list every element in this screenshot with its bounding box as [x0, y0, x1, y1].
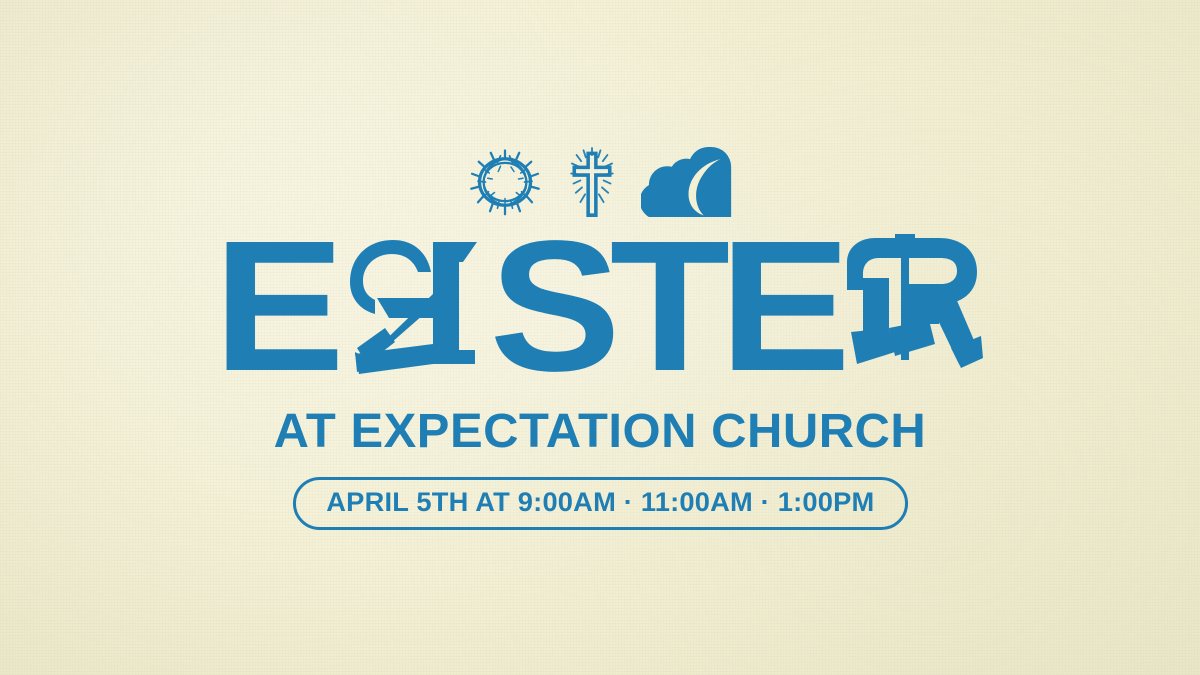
headline-letter-e1: E [213, 233, 340, 382]
easter-promo-poster: E [0, 0, 1200, 675]
headline-letter-a-blackletter [337, 232, 493, 382]
poster-content: E [0, 0, 1200, 675]
headline-letter-r-blackletter [843, 232, 983, 382]
date-pill-wrapper: APRIL 5TH AT 9:00AM · 11:00AM · 1:00PM [0, 477, 1200, 530]
subtitle: AT EXPECTATION CHURCH [0, 404, 1200, 459]
headline-letter-s: S [490, 233, 617, 382]
headline-letter-e2: E [719, 233, 846, 382]
service-times-badge: APRIL 5TH AT 9:00AM · 11:00AM · 1:00PM [293, 477, 908, 530]
headline-letter-t: T [610, 233, 726, 382]
page-title: E [0, 232, 1200, 382]
